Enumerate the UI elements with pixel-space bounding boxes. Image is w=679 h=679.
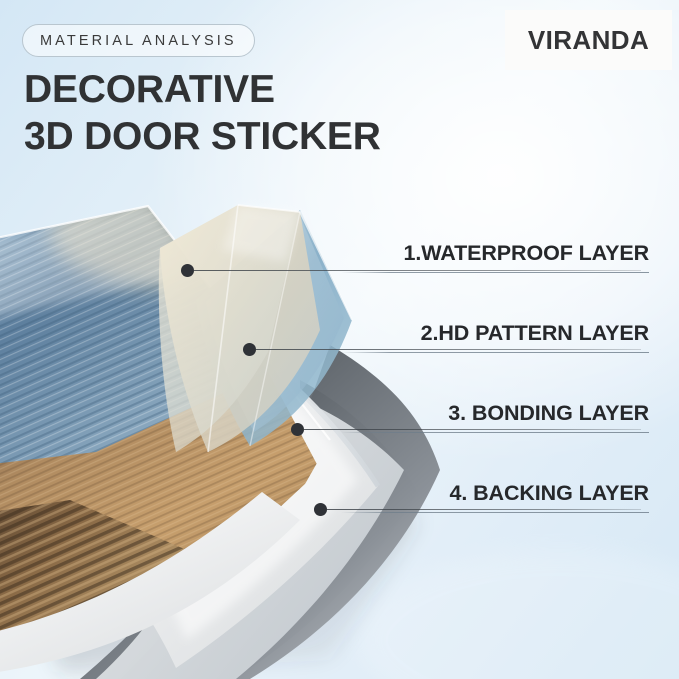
page-title: DECORATIVE 3D DOOR STICKER xyxy=(24,66,381,160)
product-infographic: MATERIAL ANALYSIS DECORATIVE 3D DOOR STI… xyxy=(0,0,679,679)
callout-1: 1.WATERPROOF LAYER xyxy=(341,237,649,273)
brand-logo: VIRANDA xyxy=(505,10,672,70)
callout-rule-2 xyxy=(341,352,649,353)
callout-label-3: 3. BONDING LAYER xyxy=(448,401,649,426)
badge-label: MATERIAL ANALYSIS xyxy=(40,33,237,49)
headline-line-1: DECORATIVE xyxy=(24,66,381,113)
brand-name: VIRANDA xyxy=(528,25,649,56)
callout-dot-1 xyxy=(181,264,194,277)
callout-label-1: 1.WATERPROOF LAYER xyxy=(404,241,649,266)
callout-4: 4. BACKING LAYER xyxy=(341,477,649,513)
callout-dot-2 xyxy=(243,343,256,356)
callout-rule-3 xyxy=(341,432,649,433)
callout-label-4: 4. BACKING LAYER xyxy=(449,481,649,506)
callout-label-2: 2.HD PATTERN LAYER xyxy=(421,321,649,346)
material-analysis-badge: MATERIAL ANALYSIS xyxy=(22,24,255,57)
callout-2: 2.HD PATTERN LAYER xyxy=(341,317,649,353)
headline-line-2: 3D DOOR STICKER xyxy=(24,113,381,160)
callout-3: 3. BONDING LAYER xyxy=(341,397,649,433)
callout-rule-4 xyxy=(341,512,649,513)
callout-rule-1 xyxy=(341,272,649,273)
callout-dot-3 xyxy=(291,423,304,436)
callout-dot-4 xyxy=(314,503,327,516)
